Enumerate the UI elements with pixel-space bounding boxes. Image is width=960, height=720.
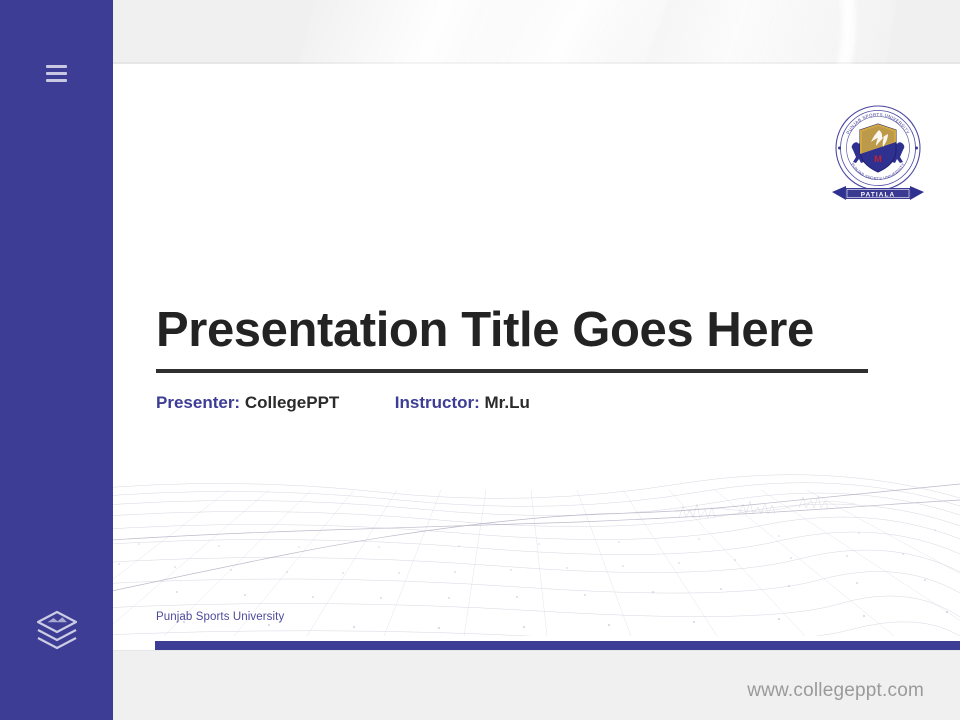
- hamburger-bar: [46, 72, 67, 75]
- hamburger-bars: [46, 65, 67, 82]
- slide-canvas[interactable]: PUNJAB SPORTS UNIVERSITY PUNJAB SPORTS U…: [79, 64, 960, 650]
- stacked-layers-icon[interactable]: [0, 600, 113, 660]
- title-underline-rule: [156, 369, 868, 373]
- hamburger-bar: [46, 65, 67, 68]
- page-root: PUNJAB SPORTS UNIVERSITY PUNJAB SPORTS U…: [0, 0, 960, 720]
- title-block: Presentation Title Goes Here Presenter: …: [156, 304, 868, 413]
- byline: Presenter: CollegePPT Instructor: Mr.Lu: [156, 393, 868, 413]
- presenter-value: CollegePPT: [245, 393, 339, 412]
- university-crest-logo: PUNJAB SPORTS UNIVERSITY PUNJAB SPORTS U…: [826, 102, 930, 206]
- instructor-label: Instructor:: [395, 393, 480, 412]
- site-watermark: www.collegeppt.com: [747, 680, 924, 702]
- hamburger-bar: [46, 79, 67, 82]
- instructor-value: Mr.Lu: [485, 393, 530, 412]
- svg-text:PATIALA: PATIALA: [861, 192, 895, 199]
- page-title: Presentation Title Goes Here: [156, 304, 868, 357]
- slide-footer-label: Punjab Sports University: [156, 611, 284, 623]
- svg-text:M: M: [874, 154, 882, 164]
- backdrop-divider: [110, 62, 960, 63]
- sidebar-rail: [0, 0, 113, 720]
- hamburger-menu-icon[interactable]: [0, 58, 113, 88]
- slide-bottom-accent-bar: [155, 641, 960, 650]
- presenter-label: Presenter:: [156, 393, 240, 412]
- wireframe-mesh-graphic: [79, 446, 960, 636]
